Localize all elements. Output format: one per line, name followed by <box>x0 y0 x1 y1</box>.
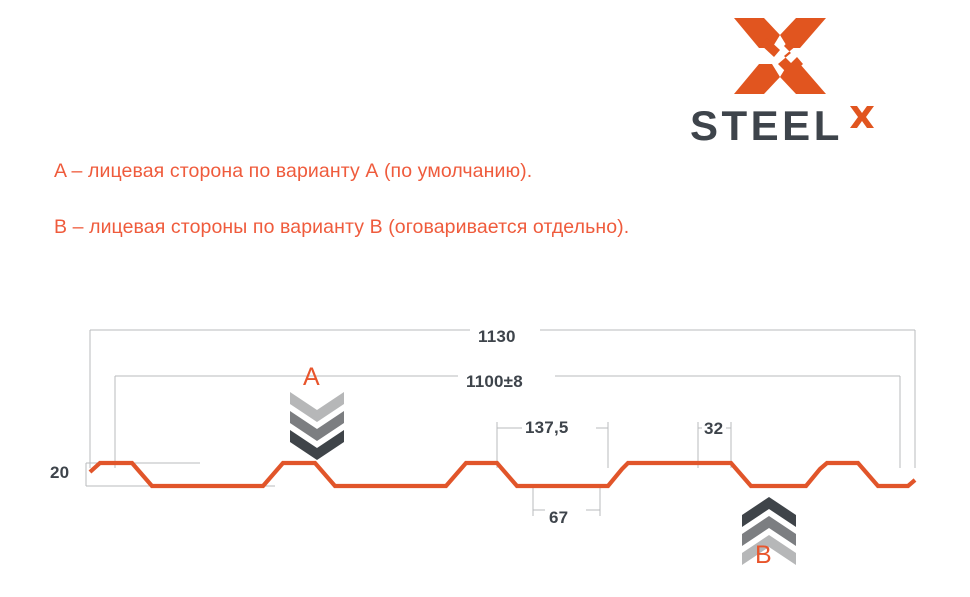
steelx-x-logo-icon <box>734 18 826 94</box>
note-side-b: B – лицевая стороны по варианту B (огова… <box>54 216 629 239</box>
side-a-marker-letter: A <box>303 365 320 390</box>
dimension-label-effective-width: 1100±8 <box>466 372 523 392</box>
chevron-down-stack-icon <box>287 392 347 467</box>
dimension-label-profile-height: 20 <box>50 463 69 483</box>
dimension-label-rib-crest-width: 32 <box>704 419 723 439</box>
svg-text:STEEL: STEEL <box>690 104 843 148</box>
dimension-label-valley-width: 67 <box>549 508 568 528</box>
dimension-label-rib-pitch: 137,5 <box>525 418 569 438</box>
side-b-marker-letter: B <box>755 543 772 568</box>
corrugated-profile-path <box>90 463 915 486</box>
note-side-a: A – лицевая сторона по варианту А (по ум… <box>54 160 532 183</box>
dimension-label-overall-width: 1130 <box>478 327 516 347</box>
brand-logo: STEEL <box>690 18 905 148</box>
brand-wordmark: STEEL <box>690 104 905 148</box>
